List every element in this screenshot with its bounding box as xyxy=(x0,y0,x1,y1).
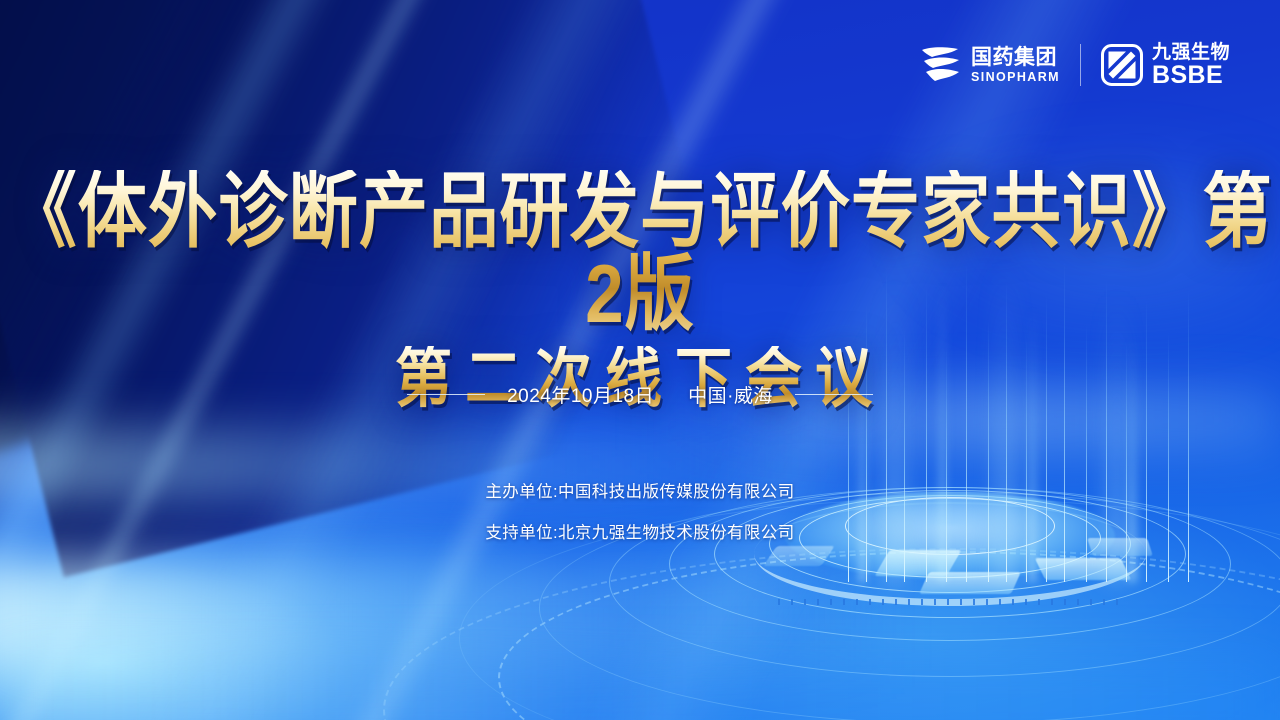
rule-left xyxy=(407,394,485,395)
bsbe-s-square-mark-icon xyxy=(1101,44,1143,86)
supporter-line: 支持单位:北京九强生物技术股份有限公司 xyxy=(0,519,1280,543)
sinopharm-name-cn: 国药集团 xyxy=(971,47,1060,68)
sinopharm-wave-mark-icon xyxy=(918,45,962,85)
sinopharm-wordmark: 国药集团 SINOPHARM xyxy=(971,47,1060,84)
sinopharm-name-en: SINOPHARM xyxy=(971,71,1060,84)
page-title: 《体外诊断产品研发与评价专家共识》第2版 xyxy=(6,170,1273,335)
logo-divider xyxy=(1080,44,1081,86)
sinopharm-logo: 国药集团 SINOPHARM xyxy=(918,45,1060,85)
title-block: 《体外诊断产品研发与评价专家共识》第2版 第二次线下会议 xyxy=(0,170,1280,403)
organizer-block: 主办单位:中国科技出版传媒股份有限公司 支持单位:北京九强生物技术股份有限公司 xyxy=(0,478,1280,560)
logo-bar: 国药集团 SINOPHARM 九强生物 BSBE xyxy=(918,36,1230,94)
organizer-line: 主办单位:中国科技出版传媒股份有限公司 xyxy=(0,478,1280,502)
conference-banner: 国药集团 SINOPHARM 九强生物 BSBE 《体外诊断产品研发与评价专家共… xyxy=(0,0,1280,720)
meta-text: 2024年10月18日 中国·威海 xyxy=(507,381,773,408)
rule-right xyxy=(795,394,873,395)
event-date: 2024年10月18日 xyxy=(507,381,654,408)
date-location-line: 2024年10月18日 中国·威海 xyxy=(0,381,1280,408)
bsbe-wordmark: 九强生物 BSBE xyxy=(1152,43,1230,88)
bsbe-name-cn: 九强生物 xyxy=(1152,43,1230,62)
bsbe-logo: 九强生物 BSBE xyxy=(1101,43,1230,88)
bsbe-name-en: BSBE xyxy=(1152,63,1230,88)
event-location: 中国·威海 xyxy=(688,381,773,408)
